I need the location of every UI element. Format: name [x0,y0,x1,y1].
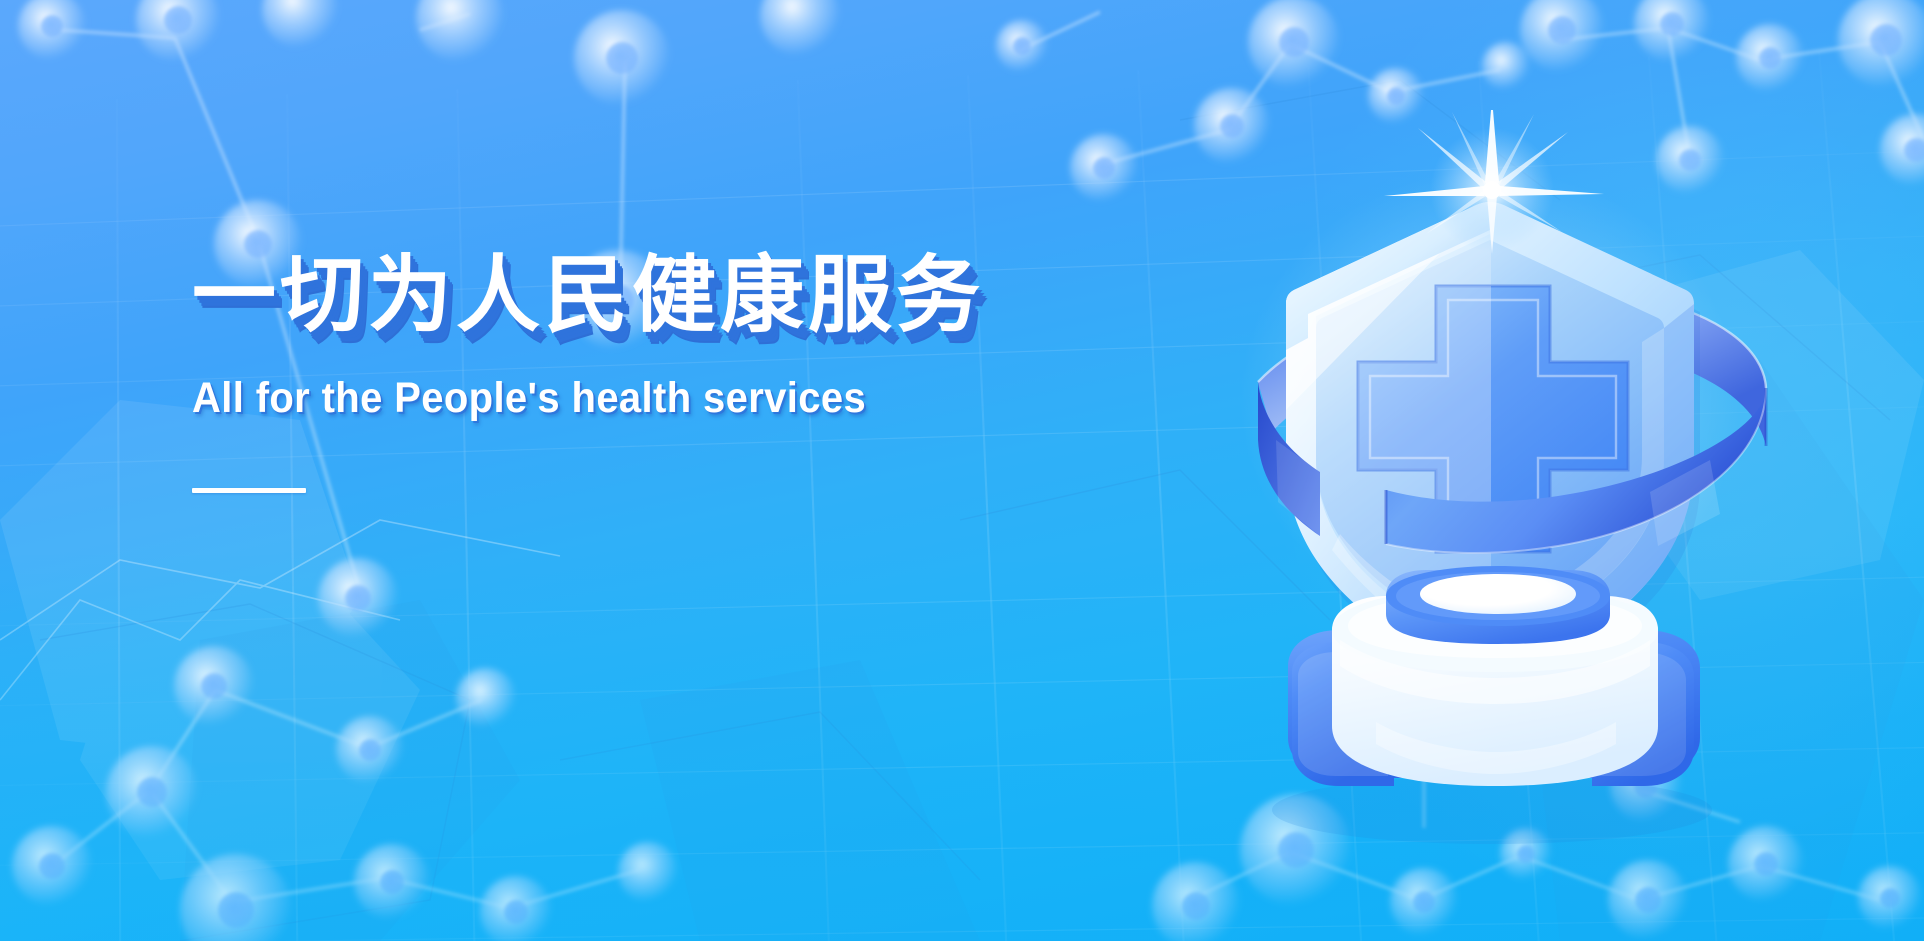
headline-block: 一切为人民健康服务 All for the People's health se… [192,250,1052,493]
title-divider [192,488,306,493]
medical-shield-illustration [1180,110,1800,850]
page-subtitle: All for the People's health services [192,373,992,425]
shield-graphic [1180,110,1800,850]
pedestal-base [1272,566,1712,844]
page-title: 一切为人民健康服务 [192,250,1052,341]
health-banner: 一切为人民健康服务 All for the People's health se… [0,0,1924,941]
